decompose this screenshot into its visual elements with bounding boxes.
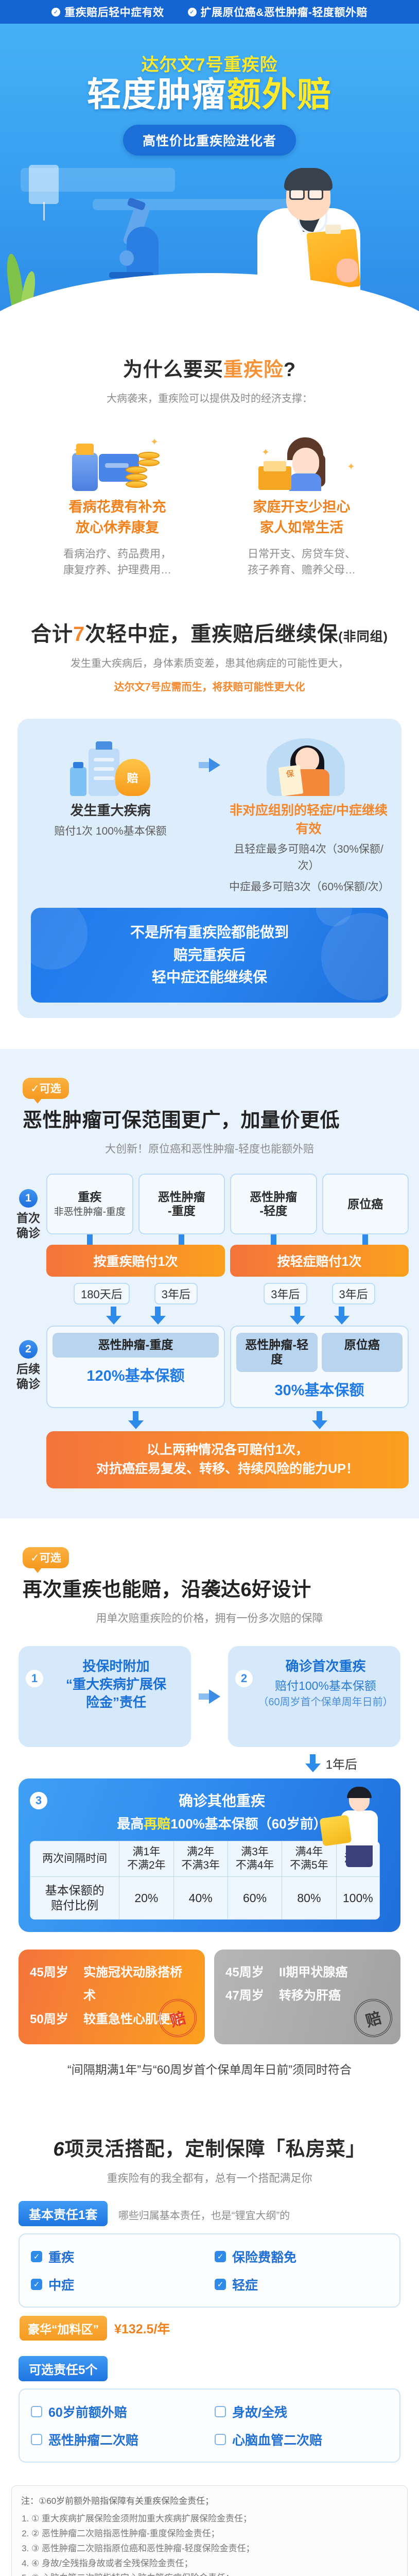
- why-buy-cards: ✦ ✦ 看病花费有补充 放心休养康复: [0, 429, 419, 578]
- case-box-payable: 45周岁 实施冠状动脉搭桥术 50周岁 较重急性心肌梗死 赔: [19, 1950, 205, 2045]
- case-event: 转移为肝癌: [279, 1984, 341, 2008]
- again-step-1-text: 投保时附加 “重大疾病扩展保 险金”责任: [48, 1657, 184, 1711]
- medicine-money-icon: ✦ ✦: [40, 429, 195, 491]
- tumor-summary-banner: 以上两种情况各可赔付1次， 对抗癌症易复发、转移、持续风险的能力UP！: [46, 1431, 409, 1488]
- arrow-down-icon: [290, 1307, 305, 1325]
- diagnosis-box: 恶性肿瘤 -重度: [138, 1174, 225, 1234]
- again-step-2-l2: 赔付100%基本保额: [258, 1677, 393, 1694]
- again-step-1-l3: 险金”责任: [48, 1693, 184, 1711]
- result-pct-left: 120%基本保额: [53, 1364, 219, 1385]
- why-buy-title: 为什么要买重疾险?: [0, 358, 419, 383]
- diagnosis-box-sub: -重度: [168, 1204, 196, 1218]
- basic-responsibility-group: 基本责任1套 哪些归属基本责任，也是“锂宜大纲”的 ✓ 重疾 ✓ 中症 ✓: [19, 2201, 400, 2341]
- step-number-1: 1: [26, 1670, 43, 1687]
- table-row-values: 基本保额的 赔付比例 20% 40% 60% 80% 100%: [30, 1877, 380, 1920]
- six-title-number: 6: [53, 2139, 64, 2160]
- waiting-box: 3年后: [332, 1283, 375, 1304]
- one-year-marker: 1年后: [0, 1747, 419, 1772]
- flow-step-1-marker: 1 首次 确诊: [10, 1174, 46, 1325]
- basic-group-note: 哪些归属基本责任，也是“锂宜大纲”的: [118, 2210, 290, 2222]
- seven-card-row: 赔 发生重大疾病 赔付1次 100%基本保额 保: [31, 734, 388, 896]
- result-tags-right: 恶性肿瘤-轻度 原位癌: [236, 1333, 403, 1371]
- step-label-2-l1: 后续: [16, 1362, 40, 1377]
- flow-arrows-row: [46, 1307, 409, 1325]
- again-header: ✓可选 再次重疾也能赔，沿袭达6好设计: [0, 1547, 419, 1602]
- case-examples: 45周岁 实施冠状动脉搭桥术 50周岁 较重急性心肌梗死 赔 45周岁 II期甲…: [19, 1950, 400, 2045]
- hero-headline: 轻度肿瘤额外赔: [0, 77, 419, 112]
- basic-item-label: 重疾: [48, 2247, 74, 2266]
- why-card-2-head: 家庭开支少担心 家人如常生活: [224, 497, 379, 537]
- top-feature-item-2: ✓ 扩展原位癌&恶性肿瘤-轻度额外赔: [188, 4, 368, 20]
- step-number-1: 1: [19, 1189, 38, 1208]
- policy-doc-label: 保: [278, 765, 304, 796]
- diagnosis-box-title: 恶性肿瘤: [158, 1190, 205, 1205]
- table-cell: 40%: [173, 1877, 228, 1920]
- payout-bar-critical: 按重疾赔付1次: [46, 1245, 225, 1277]
- step-number-2: 2: [235, 1670, 253, 1687]
- optional-item-extra-60[interactable]: 60岁前额外赔: [31, 2398, 204, 2426]
- seven-right-line-2: 中症最多可赔3次（60%保额/次）: [229, 879, 388, 896]
- why-title-part-c: ?: [284, 359, 296, 381]
- table-cell: 80%: [282, 1877, 336, 1920]
- why-card-2-head-l2: 家人如常生活: [224, 518, 379, 538]
- checkbox-icon[interactable]: [31, 2406, 42, 2417]
- waiting-period-row: 180天后 3年后 3年后 3年后: [46, 1283, 409, 1304]
- iv-bag-icon: [29, 165, 59, 204]
- seven-title-number: 7: [73, 623, 85, 646]
- diagnosis-box-title: 原位癌: [347, 1197, 383, 1212]
- basic-col-left: ✓ 重疾 ✓ 中症: [31, 2243, 204, 2298]
- seven-title-a: 合计: [31, 623, 73, 646]
- diagnosis-box: 原位癌: [322, 1174, 409, 1234]
- result-pct-right: 30%基本保额: [236, 1378, 403, 1400]
- seven-sub-1: 发生重大疾病后，身体素质变差，患其他病症的可能性更大，: [0, 656, 419, 671]
- basic-price-row: 豪华“加料区” ¥132.5/年: [19, 2316, 400, 2341]
- top-feature-item-1: ✓ 重疾赔后轻中症有效: [51, 4, 164, 20]
- checkbox-icon[interactable]: [215, 2406, 226, 2417]
- payout-bars: 按重疾赔付1次 按轻症赔付1次: [46, 1245, 409, 1277]
- basic-item-label: 中症: [48, 2275, 74, 2294]
- seven-left-body: 赔付1次 100%基本保额: [31, 823, 190, 840]
- again-step-2-l3: （60周岁首个保单周年日前）: [258, 1695, 393, 1709]
- tumor-summary-l2: 对抗癌症易复发、转移、持续风险的能力UP！: [54, 1460, 401, 1479]
- money-bag-label: 赔: [115, 759, 150, 796]
- price-tag-label: 豪华“加料区”: [20, 2316, 107, 2341]
- basic-item-premium-waiver[interactable]: ✓ 保险费豁免: [215, 2243, 388, 2270]
- diagnosis-box-title: 重疾: [78, 1190, 101, 1205]
- again-step-3-h2c: 100%基本保额（60岁前）: [170, 1816, 326, 1832]
- six-subtitle: 重疾险有的我全都有，总有一个搭配满足你: [0, 2170, 419, 2185]
- checkbox-icon[interactable]: ✓: [215, 2279, 226, 2290]
- again-step-2-l1: 确诊首次重疾: [258, 1657, 393, 1675]
- tumor-subtitle: 大创新！原位癌和恶性肿瘤-轻度也能额外赔: [0, 1141, 419, 1156]
- table-cell: 100%: [336, 1877, 379, 1920]
- case-age: 45周岁: [30, 1961, 74, 2008]
- arrow-down-icon: [305, 1754, 321, 1772]
- price-value: ¥132.5/年: [114, 2319, 170, 2337]
- diagnosis-box-sub: -轻度: [259, 1204, 287, 1218]
- seven-left-col: 赔 发生重大疾病 赔付1次 100%基本保额: [31, 734, 190, 840]
- flow-connectors: [46, 1234, 409, 1245]
- optional-item-death-disability[interactable]: 身故/全残: [215, 2398, 388, 2426]
- seven-sub-2: 达尔文7号应需而生，将获赔可能性更大化: [0, 680, 419, 695]
- why-buy-section: 为什么要买重疾险? 大病袭来，重疾险可以提供及时的经济支撑： ✦ ✦: [0, 317, 419, 579]
- basic-col-right: ✓ 保险费豁免 ✓ 轻症: [215, 2243, 388, 2298]
- diagnosis-boxes: 重疾 非恶性肿瘤-重度 恶性肿瘤 -重度 恶性肿瘤 -轻度 原位癌: [46, 1174, 409, 1234]
- basic-item-zhongzheng[interactable]: ✓ 中症: [31, 2270, 204, 2298]
- again-title: 再次重疾也能赔，沿袭达6好设计: [23, 1573, 419, 1602]
- footer-note: ② 恶性肿瘤二次赔指恶性肿瘤-重度保险金责任；: [31, 2527, 398, 2541]
- optional-item-tumor-second[interactable]: 恶性肿瘤二次赔: [31, 2426, 204, 2453]
- hero-headline-yellow: 额外赔: [227, 75, 332, 113]
- basic-item-qingzheng[interactable]: ✓ 轻症: [215, 2270, 388, 2298]
- six-title: 6项灵活搭配，定制保障「私房菜」: [0, 2137, 419, 2162]
- table-cell: 满2年 不满3年: [173, 1841, 228, 1877]
- table-cell: 满3年 不满4年: [228, 1841, 282, 1877]
- flow-stage-1-body: 重疾 非恶性肿瘤-重度 恶性肿瘤 -重度 恶性肿瘤 -轻度 原位癌: [46, 1174, 409, 1325]
- diagnosis-box-title: 恶性肿瘤: [250, 1190, 297, 1205]
- again-step-1: 1 投保时附加 “重大疾病扩展保 险金”责任: [19, 1646, 191, 1747]
- table-header-ratio: 基本保额的 赔付比例: [30, 1877, 119, 1920]
- why-card-1-head-l2: 放心休养康复: [40, 518, 195, 538]
- diagnosis-box-sub: 非恶性肿瘤-重度: [54, 1206, 126, 1218]
- result-box-right: 恶性肿瘤-轻度 原位癌 30%基本保额: [230, 1326, 409, 1408]
- waiting-box: 3年后: [154, 1283, 198, 1304]
- man-with-gold-icon: [326, 1789, 388, 1866]
- seven-banner: 不是所有重疾险都能做到 赔完重疾后 轻中症还能继续保: [31, 908, 388, 1003]
- infographic-page: ✓ 重疾赔后轻中症有效 ✓ 扩展原位癌&恶性肿瘤-轻度额外赔 达尔文7号重疾险 …: [0, 0, 419, 2576]
- seven-claims-section: 合计7次轻中症，重疾赔后继续保(非同组) 发生重大疾病后，身体素质变差，患其他病…: [0, 579, 419, 1019]
- footer-note-list: ① 重大疾病扩展保险金须附加重大疾病扩展保险金责任； ② 恶性肿瘤二次赔指恶性肿…: [31, 2512, 398, 2576]
- step-label-1: 首次 确诊: [16, 1211, 40, 1241]
- footer-title: 注：①60岁前额外赔指保障有关重疾保险金责任；: [21, 2494, 398, 2509]
- arrow-down-icon: [106, 1307, 121, 1325]
- hero-illustration: [0, 163, 419, 317]
- six-title-c: 「私房菜」: [266, 2139, 366, 2160]
- flow-tail-arrows: [46, 1411, 409, 1429]
- basic-group-head: 基本责任1套: [19, 2201, 108, 2226]
- checkbox-icon[interactable]: [31, 2434, 42, 2445]
- hero-tagline-pill: 高性价比重疾险进化者: [123, 125, 296, 156]
- table-cell: 20%: [119, 1877, 173, 1920]
- waiting-cell-left: 180天后 3年后: [46, 1283, 225, 1304]
- optional-group-head: 可选责任5个: [19, 2356, 108, 2381]
- why-title-part-a: 为什么要买: [123, 359, 223, 381]
- waiting-cell-right: 3年后 3年后: [230, 1283, 409, 1304]
- tumor-title: 恶性肿瘤可保范围更广，加量价更低: [23, 1104, 419, 1132]
- arrow-cell-right: [230, 1307, 409, 1325]
- why-buy-subtitle: 大病袭来，重疾险可以提供及时的经济支撑：: [0, 391, 419, 406]
- hero-headline-white: 轻度肿瘤: [87, 75, 227, 113]
- step-label-1-l1: 首次: [16, 1211, 40, 1226]
- seven-right-col: 保 非对应组别的轻症/中症继续有效 且轻症最多可赔4次（30%保额/次） 中症最…: [229, 734, 388, 896]
- waiting-box: 3年后: [264, 1283, 307, 1304]
- basic-item-label: 保险费豁免: [232, 2247, 296, 2266]
- optional-item-label: 身故/全残: [232, 2402, 287, 2421]
- again-step-2: 2 确诊首次重疾 赔付100%基本保额 （60周岁首个保单周年日前）: [228, 1646, 400, 1747]
- result-tag: 恶性肿瘤-重度: [53, 1333, 219, 1358]
- checkbox-icon[interactable]: [215, 2434, 226, 2445]
- arrow-right-icon: [195, 1689, 224, 1704]
- again-steps: 1 投保时附加 “重大疾病扩展保 险金”责任 2 确诊首次重疾 赔付100%基本…: [0, 1646, 419, 1747]
- check-icon: ✓: [51, 8, 60, 16]
- step-label-2: 后续 确诊: [16, 1362, 40, 1392]
- tumor-section: ✓可选 恶性肿瘤可保范围更广，加量价更低 大创新！原位癌和恶性肿瘤-轻度也能额外…: [0, 1049, 419, 1518]
- diagnosis-box: 恶性肿瘤 -轻度: [230, 1174, 317, 1234]
- again-step-1-l1: 投保时附加: [48, 1657, 184, 1675]
- seven-blue-card: 赔 发生重大疾病 赔付1次 100%基本保额 保: [18, 719, 401, 1019]
- why-card-1-body: 看病治疗、药品费用， 康复疗养、护理费用…: [40, 546, 195, 579]
- optional-item-label: 60岁前额外赔: [48, 2402, 127, 2421]
- optional-col-left: 60岁前额外赔 恶性肿瘤二次赔: [31, 2398, 204, 2453]
- check-icon: ✓: [188, 8, 197, 16]
- case-event: II期甲状腺癌: [279, 1961, 347, 1985]
- flow-stage-1: 1 首次 确诊 重疾 非恶性肿瘤-重度 恶性肿瘤 -重度: [10, 1174, 409, 1325]
- hero-banner: 达尔文7号重疾险 轻度肿瘤额外赔 高性价比重疾险进化者: [0, 24, 419, 317]
- top-feature-label-2: 扩展原位癌&恶性肿瘤-轻度额外赔: [201, 4, 368, 20]
- flow-stage-2: 2 后续 确诊 恶性肿瘤-重度 120%基本保额: [10, 1325, 409, 1488]
- tumor-summary-l1: 以上两种情况各可赔付1次，: [54, 1440, 401, 1460]
- optional-col-right: 身故/全残 心脑血管二次赔: [215, 2398, 388, 2453]
- step-number-3: 3: [30, 1792, 47, 1809]
- case-line: 45周岁 II期甲状腺癌: [225, 1961, 389, 1985]
- footer-note: ④ 身故/全残指身故或者全残保险金责任；: [31, 2556, 398, 2571]
- seven-title-b: 次轻中症，重疾赔后继续保: [85, 623, 338, 646]
- second-claim-section: ✓可选 再次重疾也能赔，沿袭达6好设计 用单次赔重疾险的价格，拥有一份多次赔的保…: [0, 1518, 419, 2104]
- why-card-2-body: 日常开支、房贷车贷、 孩子养育、赡养父母…: [224, 546, 379, 579]
- medicine-bag-icon: 赔: [31, 734, 190, 796]
- tumor-header: ✓可选 恶性肿瘤可保范围更广，加量价更低: [0, 1078, 419, 1132]
- footer-note: ① 重大疾病扩展保险金须附加重大疾病扩展保险金责任；: [31, 2512, 398, 2527]
- why-card-2-head-l1: 家庭开支少担心: [224, 497, 379, 517]
- again-step-1-l2: “重大疾病扩展保: [48, 1675, 184, 1693]
- basic-item-label: 轻症: [232, 2275, 258, 2294]
- six-options-section: 6项灵活搭配，定制保障「私房菜」 重疾险有的我全都有，总有一个搭配满足你 基本责…: [0, 2103, 419, 2462]
- optional-item-label: 心脑血管二次赔: [232, 2430, 322, 2449]
- again-step-2-text: 确诊首次重疾 赔付100%基本保额 （60周岁首个保单周年日前）: [258, 1657, 393, 1709]
- checkbox-icon[interactable]: ✓: [31, 2279, 42, 2290]
- why-title-highlight: 重疾险: [223, 359, 284, 381]
- case-age: 45周岁: [225, 1961, 270, 1985]
- top-feature-bar: ✓ 重疾赔后轻中症有效 ✓ 扩展原位癌&恶性肿瘤-轻度额外赔: [0, 0, 419, 24]
- why-card-1-body-l2: 康复疗养、护理费用…: [40, 562, 195, 579]
- arrow-down-icon: [334, 1307, 350, 1325]
- checkbox-icon[interactable]: ✓: [31, 2251, 42, 2262]
- basic-item-zhongji[interactable]: ✓ 重疾: [31, 2243, 204, 2270]
- result-tags-left: 恶性肿瘤-重度: [53, 1333, 219, 1358]
- one-year-label: 1年后: [326, 1754, 357, 1772]
- why-card-1-head-l1: 看病花费有补充: [40, 497, 195, 517]
- iv-line: [43, 202, 45, 221]
- tumor-flowchart: 1 首次 确诊 重疾 非恶性肿瘤-重度 恶性肿瘤 -重度: [10, 1174, 409, 1488]
- arrow-down-icon: [128, 1411, 144, 1429]
- hero-product-name: 达尔文7号重疾险: [0, 50, 419, 76]
- arrow-down-icon: [150, 1307, 166, 1325]
- seven-right-line-1: 且轻症最多可赔4次（30%保额/次）: [229, 841, 388, 875]
- arrow-cell-left: [46, 1307, 225, 1325]
- policy-lady-icon: 保: [229, 734, 388, 796]
- family-money-icon: ✦ ✦: [224, 429, 379, 491]
- seven-right-head: 非对应组别的轻症/中症继续有效: [229, 800, 388, 837]
- flow-stage-2-body: 恶性肿瘤-重度 120%基本保额 恶性肿瘤-轻度 原位癌 30%基本保额: [46, 1325, 409, 1488]
- again-step-3-h2b: 再赔: [144, 1816, 170, 1832]
- six-title-b: 项灵活搭配，定制保障: [65, 2139, 266, 2160]
- again-step-3-h2a: 最高: [117, 1816, 144, 1832]
- optional-badge: ✓可选: [23, 1547, 69, 1568]
- why-card-1: ✦ ✦ 看病花费有补充 放心休养康复: [40, 429, 195, 578]
- footer-note: ⑤ 心脑血管二次赔指特定心脑血管疾病保险金责任；: [31, 2571, 398, 2576]
- waiting-box: 180天后: [74, 1283, 130, 1304]
- diagnosis-box: 重疾 非恶性肿瘤-重度: [46, 1174, 133, 1234]
- again-step-3-card: 3 确诊其他重疾 最高再赔100%基本保额（60岁前） 两次间隔时间 满1年 不…: [19, 1778, 400, 1932]
- step-label-1-l2: 确诊: [16, 1226, 40, 1241]
- optional-group-box: 60岁前额外赔 恶性肿瘤二次赔 身故/全残 心脑血管二次赔: [19, 2388, 400, 2463]
- optional-badge: ✓可选: [23, 1078, 69, 1099]
- footer-disclaimer: 注：①60岁前额外赔指保障有关重疾保险金责任； ① 重大疾病扩展保险金须附加重大…: [11, 2485, 408, 2576]
- result-box-left: 恶性肿瘤-重度 120%基本保额: [46, 1326, 225, 1408]
- again-note: “间隔期满1年”与“60周岁首个保单周年日前”须同时符合: [0, 2060, 419, 2077]
- flow-step-2-marker: 2 后续 确诊: [10, 1325, 46, 1488]
- seven-title: 合计7次轻中症，重疾赔后继续保(非同组): [0, 621, 419, 648]
- case-age: 47周岁: [225, 1984, 270, 2008]
- table-cell: 满1年 不满2年: [119, 1841, 173, 1877]
- table-cell: 60%: [228, 1877, 282, 1920]
- why-card-1-body-l1: 看病治疗、药品费用，: [40, 546, 195, 563]
- why-card-2-body-l1: 日常开支、房贷车贷、: [224, 546, 379, 563]
- footer-note: ③ 恶性肿瘤二次赔指原位癌和恶性肿瘤-轻度保险金责任；: [31, 2541, 398, 2556]
- step-label-2-l2: 确诊: [16, 1377, 40, 1392]
- optional-responsibility-group: 可选责任5个 60岁前额外赔 恶性肿瘤二次赔 身故/全残: [19, 2356, 400, 2463]
- basic-group-box: ✓ 重疾 ✓ 中症 ✓ 保险费豁免 ✓ 轻症: [19, 2233, 400, 2308]
- arrow-right-icon: [195, 734, 224, 796]
- why-card-2-body-l2: 孩子养育、赡养父母…: [224, 562, 379, 579]
- optional-item-cardio-second[interactable]: 心脑血管二次赔: [215, 2426, 388, 2453]
- seven-left-head: 发生重大疾病: [31, 800, 190, 819]
- result-tag: 恶性肿瘤-轻度: [236, 1333, 318, 1371]
- again-subtitle: 用单次赔重疾险的价格，拥有一份多次赔的保障: [0, 1610, 419, 1625]
- case-box-not-payable: 45周岁 II期甲状腺癌 47周岁 转移为肝癌 赔: [214, 1950, 400, 2045]
- checkbox-icon[interactable]: ✓: [215, 2251, 226, 2262]
- top-feature-label-1: 重疾赔后轻中症有效: [64, 4, 164, 20]
- why-card-1-head: 看病花费有补充 放心休养康复: [40, 497, 195, 537]
- optional-item-label: 恶性肿瘤二次赔: [48, 2430, 138, 2449]
- step-number-2: 2: [19, 1340, 38, 1359]
- arrow-down-icon: [312, 1411, 327, 1429]
- result-boxes: 恶性肿瘤-重度 120%基本保额 恶性肿瘤-轻度 原位癌 30%基本保额: [46, 1326, 409, 1408]
- result-tag: 原位癌: [322, 1333, 403, 1371]
- payout-bar-mild: 按轻症赔付1次: [230, 1245, 409, 1277]
- case-age: 50周岁: [30, 2008, 74, 2031]
- why-card-2: ✦ ✦ 家庭开支少担心 家人如常生活 日常开支、房贷车贷、 孩子养育、赡养父母…: [224, 429, 379, 578]
- seven-title-small: (非同组): [338, 630, 388, 644]
- table-header-interval: 两次间隔时间: [30, 1841, 119, 1877]
